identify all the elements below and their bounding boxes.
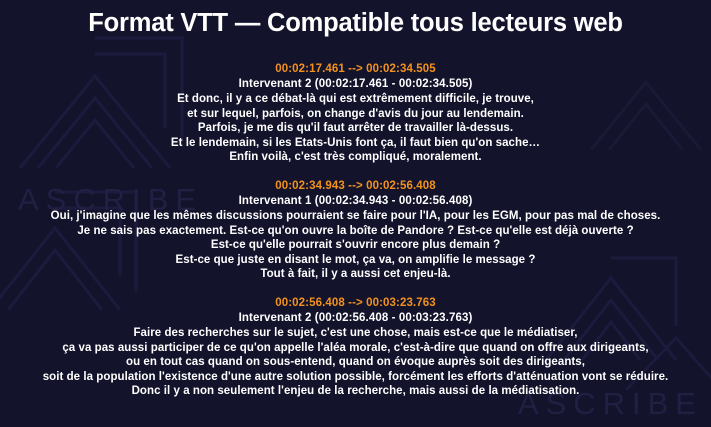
cue-text-line: Est-ce que juste en disant le mot, ça va… [0, 253, 711, 268]
cue-text-line: Donc il y a non seulement l'enjeu de la … [0, 384, 711, 399]
cue-text-line: Et donc, il y a ce débat-là qui est extr… [0, 92, 711, 107]
cue-text-line: Enfin voilà, c'est très compliqué, moral… [0, 150, 711, 165]
cue-text-line: Et le lendemain, si les Etats-Unis font … [0, 136, 711, 151]
cue-timestamp: 00:02:56.408 --> 00:03:23.763 [0, 296, 711, 311]
subtitle-cue-list: 00:02:17.461 --> 00:02:34.505 Intervenan… [0, 62, 711, 399]
cue-text-line: Tout à fait, il y a aussi cet enjeu-là. [0, 267, 711, 282]
cue-text-line: et sur lequel, parfois, on change d'avis… [0, 107, 711, 122]
cue-text-line: Parfois, je me dis qu'il faut arrêter de… [0, 121, 711, 136]
cue-text-line: Je ne sais pas exactement. Est-ce qu'on … [0, 224, 711, 239]
subtitle-cue: 00:02:34.943 --> 00:02:56.408 Intervenan… [0, 179, 711, 282]
cue-text-line: Est-ce qu'elle pourrait s'ouvrir encore … [0, 238, 711, 253]
cue-timestamp: 00:02:34.943 --> 00:02:56.408 [0, 179, 711, 194]
cue-text-line: Oui, j'imagine que les mêmes discussions… [0, 209, 711, 224]
subtitle-cue: 00:02:17.461 --> 00:02:34.505 Intervenan… [0, 62, 711, 165]
cue-text-line: ou en tout cas quand on sous-entend, qua… [0, 355, 711, 370]
cue-speaker: Intervenant 2 (00:02:56.408 - 00:03:23.7… [0, 311, 711, 326]
subtitle-cue: 00:02:56.408 --> 00:03:23.763 Intervenan… [0, 296, 711, 399]
cue-text-line: ça va pas aussi participer de ce qu'on a… [0, 341, 711, 356]
cue-timestamp: 00:02:17.461 --> 00:02:34.505 [0, 62, 711, 77]
cue-text-line: soit de la population l'existence d'une … [0, 370, 711, 385]
vtt-subtitle-slide: ASCRIBE ASCRIBE Format VTT — Compatible … [0, 0, 711, 427]
cue-text-line: Faire des recherches sur le sujet, c'est… [0, 326, 711, 341]
cue-speaker: Intervenant 2 (00:02:17.461 - 00:02:34.5… [0, 77, 711, 92]
page-title: Format VTT — Compatible tous lecteurs we… [0, 9, 711, 38]
cue-speaker: Intervenant 1 (00:02:34.943 - 00:02:56.4… [0, 194, 711, 209]
